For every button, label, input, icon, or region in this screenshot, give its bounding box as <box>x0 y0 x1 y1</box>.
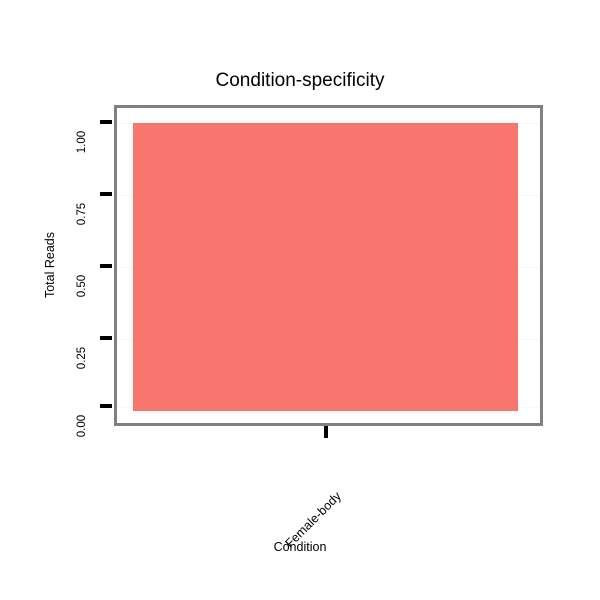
y-tick-label-1: 0.25 <box>76 338 88 378</box>
bar-female-body <box>133 123 518 411</box>
y-tick-mark-1 <box>100 336 112 340</box>
y-tick-label-2: 0.50 <box>76 266 88 306</box>
x-axis-title: Condition <box>0 540 600 554</box>
plot-panel <box>114 105 543 426</box>
y-tick-label-4: 1.00 <box>76 122 88 162</box>
y-axis-title: Total Reads <box>43 229 57 301</box>
plot-panel-inner <box>117 108 540 423</box>
y-tick-label-0: 0.00 <box>76 406 88 446</box>
y-tick-mark-3 <box>100 192 112 196</box>
y-tick-mark-4 <box>100 120 112 124</box>
chart-title: Condition-specificity <box>0 70 600 92</box>
y-tick-mark-0 <box>100 404 112 408</box>
y-tick-mark-2 <box>100 264 112 268</box>
y-tick-label-3: 0.75 <box>76 194 88 234</box>
x-tick-mark-0 <box>324 426 328 438</box>
chart-figure: Condition-specificity Total Reads 0.00 0… <box>0 0 600 600</box>
